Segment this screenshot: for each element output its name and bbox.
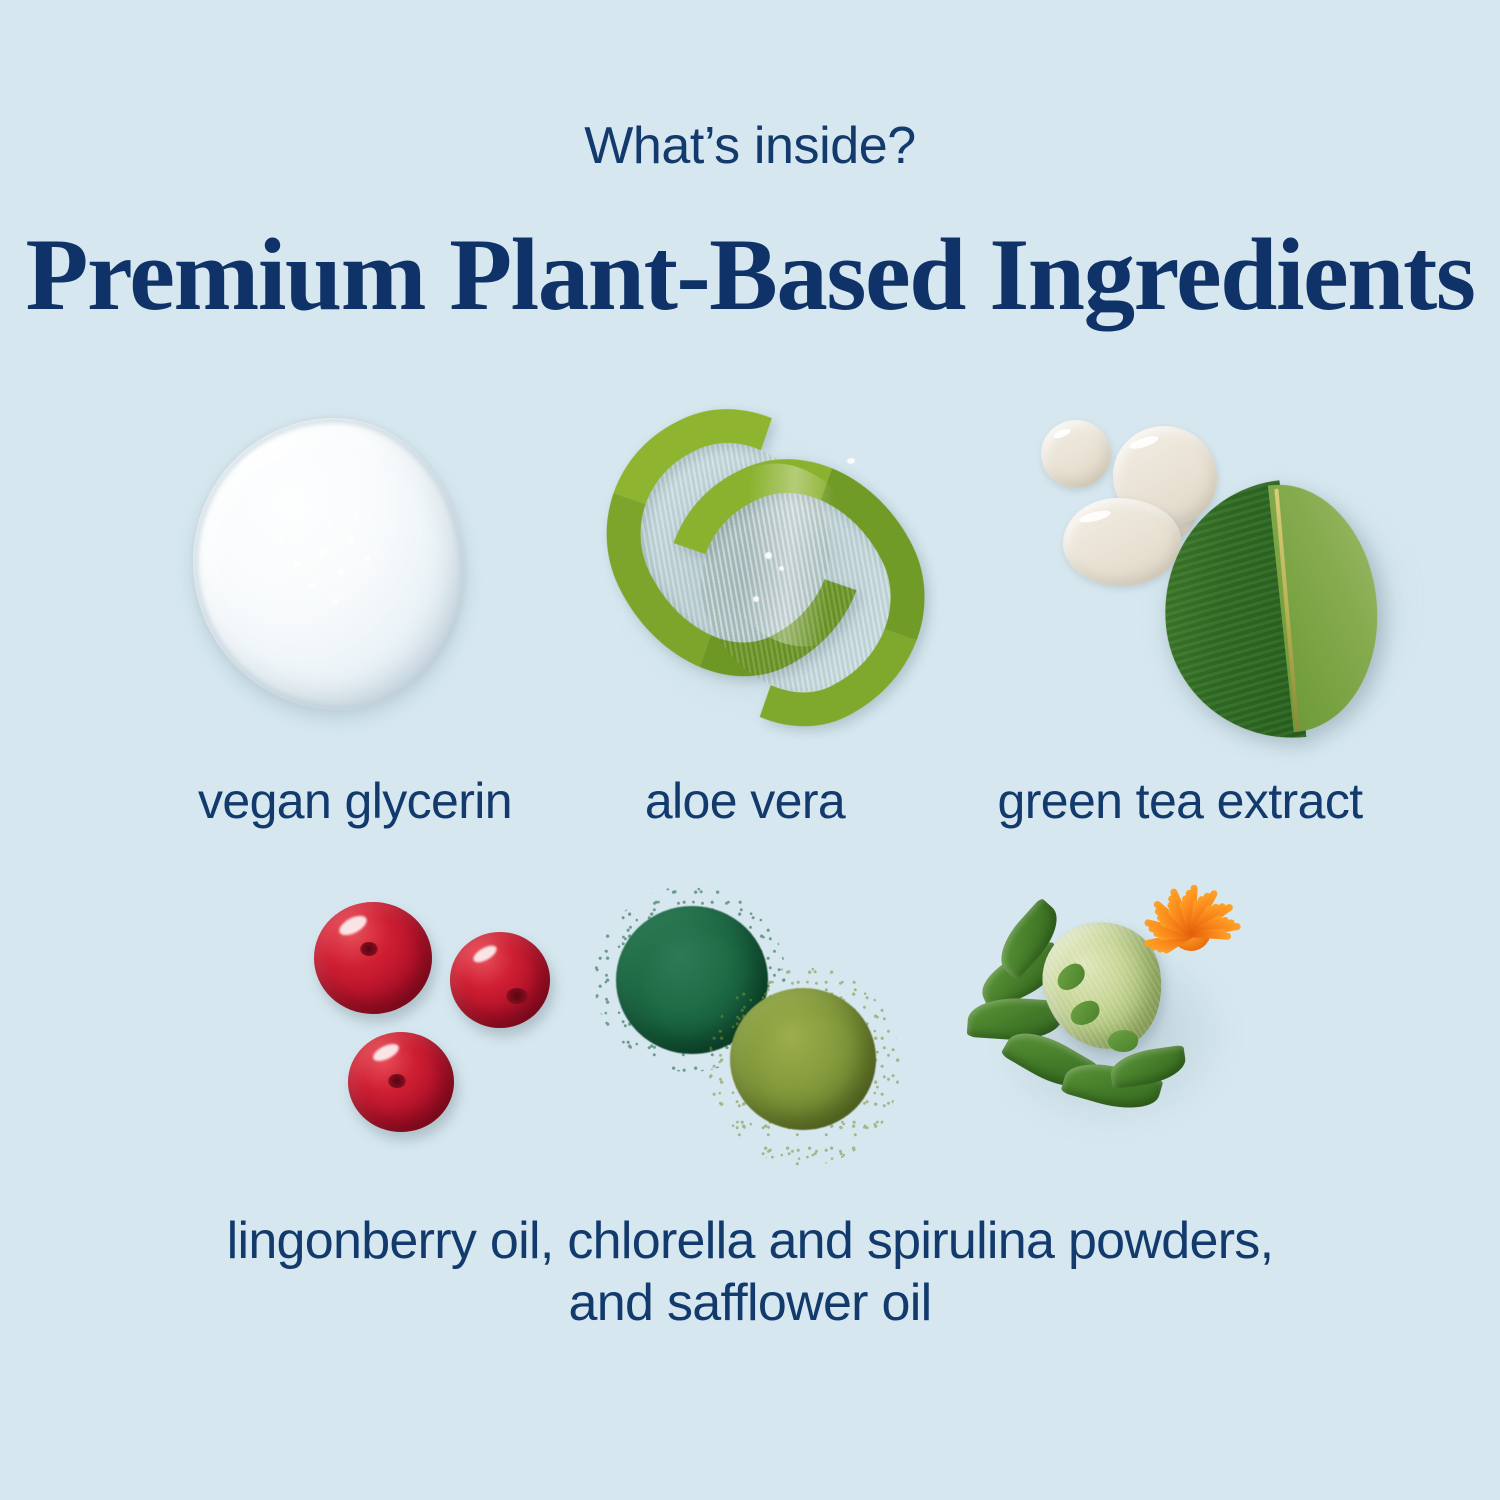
ingredients-infographic: What’s inside? Premium Plant-Based Ingre… — [0, 0, 1500, 1500]
berry-calyx — [506, 988, 528, 1004]
bottom-caption: lingonberry oil, chlorella and spirulina… — [0, 1210, 1500, 1334]
caption-line-1: lingonberry oil, chlorella and spirulina… — [0, 1210, 1500, 1272]
berry-highlight — [471, 942, 500, 965]
chlorella-powder-pile — [730, 988, 876, 1130]
berry-highlight — [336, 912, 370, 939]
gel-bubbles — [263, 488, 393, 623]
aloe-gel-drop — [779, 566, 784, 571]
chlorella-spirulina-powders-image — [612, 900, 912, 1180]
tea-leaf-and-oil-droplets-image — [1025, 408, 1405, 748]
label-green-tea-extract: green tea extract — [890, 772, 1470, 830]
gel-droplet-image — [185, 408, 475, 728]
eyebrow-text: What’s inside? — [0, 116, 1500, 176]
lingonberry — [314, 902, 432, 1014]
green-tea-leaf — [1152, 472, 1388, 751]
droplet-highlight — [1128, 434, 1159, 452]
aloe-gel-drop — [765, 552, 772, 559]
berry-highlight — [371, 1041, 402, 1065]
droplet-highlight — [1078, 508, 1111, 524]
page-title: Premium Plant-Based Ingredients — [0, 216, 1500, 334]
label-aloe-vera: aloe vera — [545, 772, 945, 830]
aloe-gel-drop — [847, 458, 855, 464]
berry-calyx — [360, 942, 378, 956]
safflower-bud-image — [960, 880, 1260, 1150]
berry-calyx — [388, 1074, 406, 1088]
aloe-leaf-strips-image — [605, 400, 925, 730]
lingonberries-image — [300, 890, 570, 1140]
oil-droplet-small — [1041, 420, 1111, 488]
caption-line-2: and safflower oil — [0, 1272, 1500, 1334]
lingonberry — [348, 1032, 454, 1132]
droplet-highlight — [1052, 427, 1071, 440]
lingonberry — [450, 932, 550, 1028]
aloe-gel-drop — [753, 596, 759, 602]
safflower-florets — [1127, 874, 1256, 988]
